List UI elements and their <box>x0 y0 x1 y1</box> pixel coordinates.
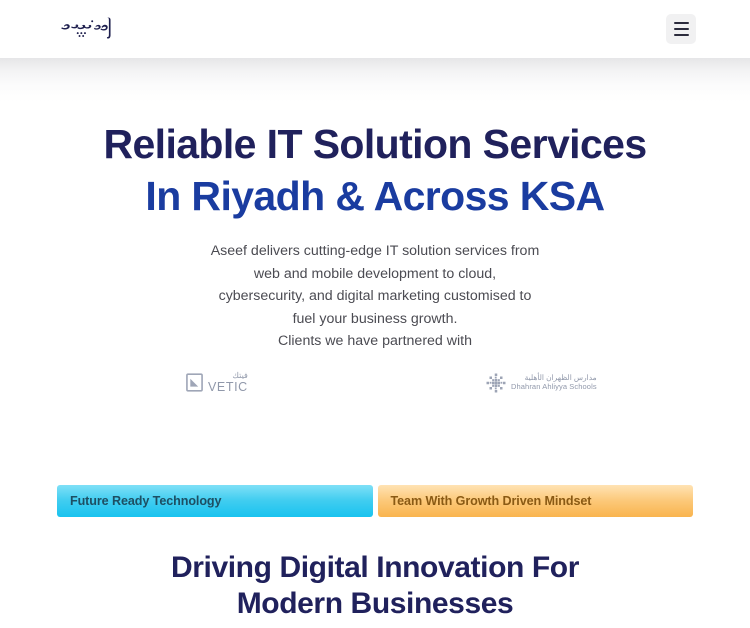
aseef-logo-icon <box>55 14 117 44</box>
site-header <box>0 0 750 58</box>
hamburger-icon-bar-3 <box>674 34 689 36</box>
landing-page: Reliable IT Solution Services In Riyadh … <box>0 0 750 628</box>
feature-pill-label: Future Ready Technology <box>70 494 221 508</box>
page-title-line-2: In Riyadh & Across KSA <box>30 170 720 222</box>
page-title-line-1: Reliable IT Solution Services <box>30 118 720 170</box>
menu-toggle-button[interactable] <box>666 14 696 44</box>
vetic-english-text: VETIC <box>208 381 248 394</box>
hamburger-icon-bar-1 <box>674 22 689 24</box>
clients-partnered-label: Clients we have partnered with <box>175 330 575 353</box>
feature-pill-team-with-growth-driven-mindset[interactable]: Team With Growth Driven Mindset <box>378 485 694 517</box>
section-heading-driving-digital-innovation: Driving Digital Innovation For Modern Bu… <box>0 550 750 622</box>
vetic-wordmark: فيتك VETIC <box>208 372 248 394</box>
aseef-logo[interactable] <box>55 14 117 44</box>
vetic-arabic-text: فيتك <box>208 372 248 380</box>
vetic-square-mark-icon <box>186 373 203 392</box>
dhahran-wordmark: مدارس الظهران الأهلية Dhahran Ahliyya Sc… <box>511 374 597 391</box>
dhahran-english-text: Dhahran Ahliyya Schools <box>511 383 597 392</box>
client-logo-dhahran-ahliyya-schools[interactable]: مدارس الظهران الأهلية Dhahran Ahliyya Sc… <box>486 373 597 393</box>
hamburger-icon-bar-2 <box>674 28 689 30</box>
feature-highlight-bar: Future Ready Technology Team With Growth… <box>57 485 693 517</box>
client-logo-strip: فيتك VETIC <box>0 368 750 408</box>
feature-pill-future-ready-technology[interactable]: Future Ready Technology <box>57 485 373 517</box>
client-logo-vetic[interactable]: فيتك VETIC <box>186 372 248 394</box>
feature-pill-label: Team With Growth Driven Mindset <box>391 494 592 508</box>
dhahran-dotted-star-emblem-icon <box>486 373 506 393</box>
hero-section: Reliable IT Solution Services In Riyadh … <box>0 58 750 353</box>
hero-description: Aseef delivers cutting-edge IT solution … <box>210 240 540 330</box>
page-title: Reliable IT Solution Services In Riyadh … <box>30 118 720 222</box>
